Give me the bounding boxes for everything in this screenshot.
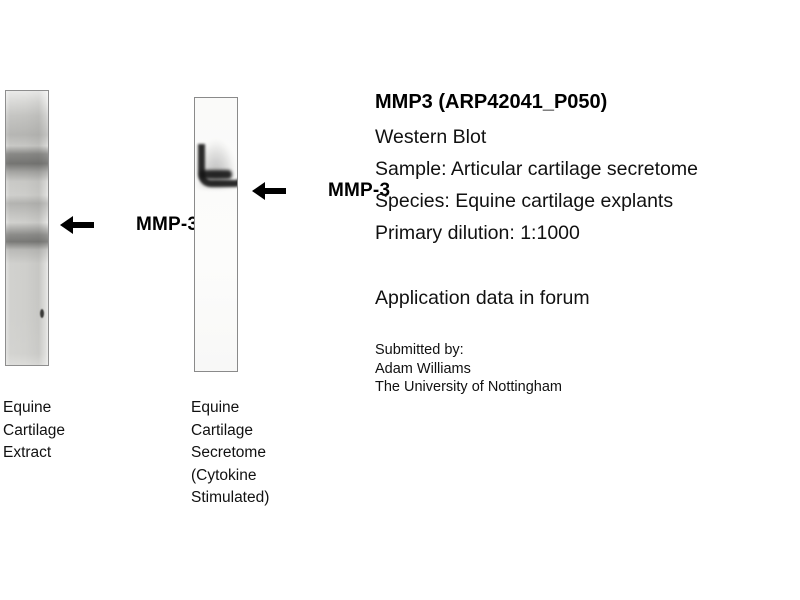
band-label-extract: MMP-3 [136, 214, 198, 236]
western-blot-figure: MMP-3 Equine Cartilage Extract MMP-3 Equ… [0, 0, 800, 600]
forum-note: Application data in forum [375, 285, 800, 311]
band-annotation-extract: MMP-3 [60, 214, 198, 236]
info-line-species: Species: Equine cartilage explants [375, 185, 800, 217]
info-line-dilution: Primary dilution: 1:1000 [375, 217, 800, 249]
blot-band-mmp3 [198, 144, 238, 187]
submitter-affiliation: The University of Nottingham [375, 378, 800, 397]
blot-speck [40, 309, 44, 318]
info-line-sample: Sample: Articular cartilage secretome [375, 153, 800, 185]
blot-film-extract [6, 91, 48, 365]
blot-film-secretome [195, 98, 237, 371]
band-annotation-secretome: MMP-3 [252, 180, 390, 202]
blot-lane-secretome [194, 97, 238, 372]
lane-caption-secretome: Equine Cartilage Secretome (Cytokine Sti… [191, 397, 269, 510]
submitted-block: Submitted by: Adam Williams The Universi… [375, 341, 800, 397]
info-line-assay: Western Blot [375, 121, 800, 153]
lane-caption-extract: Equine Cartilage Extract [3, 397, 65, 465]
submitted-label: Submitted by: [375, 341, 800, 360]
blot-lane-extract [5, 90, 49, 366]
blot-band-mmp3-core [200, 170, 232, 179]
submitter-name: Adam Williams [375, 360, 800, 379]
figure-title: MMP3 (ARP42041_P050) [375, 89, 800, 115]
info-block: MMP3 (ARP42041_P050) Western Blot Sample… [375, 89, 800, 397]
